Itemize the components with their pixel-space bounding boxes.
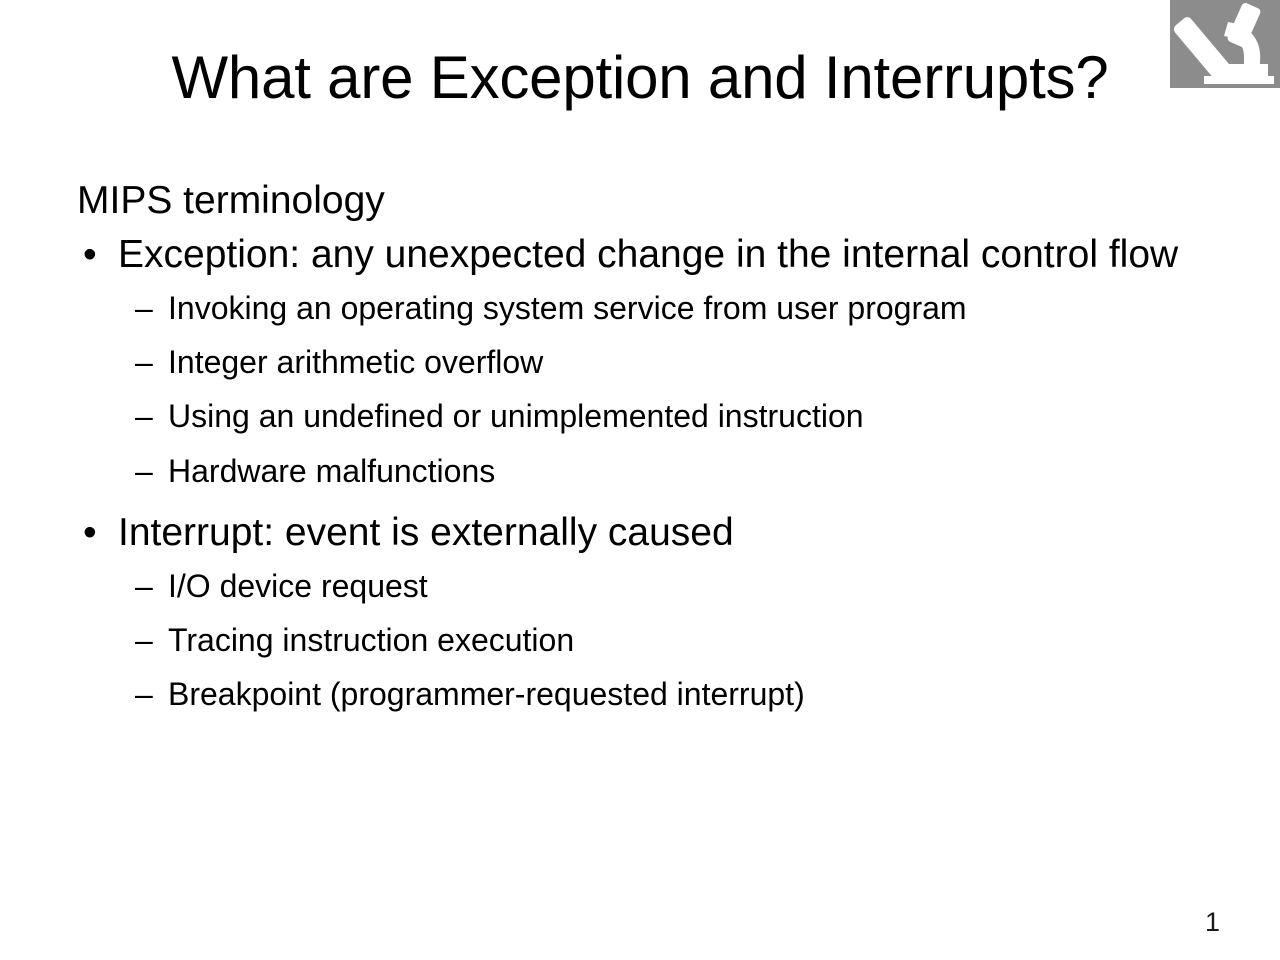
bullet-dash-icon: – bbox=[135, 289, 153, 328]
list-item: • Interrupt: event is externally caused bbox=[77, 510, 1207, 556]
list-item: – Using an undefined or unimplemented in… bbox=[77, 397, 1207, 436]
spacer bbox=[77, 280, 1207, 289]
list-item: – Breakpoint (programmer-requested inter… bbox=[77, 675, 1207, 714]
list-item-label: Hardware malfunctions bbox=[168, 453, 495, 489]
list-item-label: Breakpoint (programmer-requested interru… bbox=[168, 676, 805, 712]
page-title: What are Exception and Interrupts? bbox=[0, 46, 1280, 111]
list-item: – I/O device request bbox=[77, 567, 1207, 606]
bullet-dash-icon: – bbox=[135, 567, 153, 606]
bullet-dash-icon: – bbox=[135, 343, 153, 382]
bullet-dot-icon: • bbox=[83, 510, 97, 556]
list-item: – Integer arithmetic overflow bbox=[77, 343, 1207, 382]
list-item: – Hardware malfunctions bbox=[77, 452, 1207, 491]
list-item-label: Integer arithmetic overflow bbox=[168, 344, 543, 380]
bullet-dot-icon: • bbox=[83, 232, 97, 278]
list-item-label: Using an undefined or unimplemented inst… bbox=[168, 398, 864, 434]
bullet-dash-icon: – bbox=[135, 675, 153, 714]
list-item: – Tracing instruction execution bbox=[77, 621, 1207, 660]
list-item-label: Tracing instruction execution bbox=[168, 622, 574, 658]
spacer bbox=[77, 558, 1207, 567]
list-item-label: Interrupt: event is externally caused bbox=[118, 511, 734, 554]
list-item-label: Invoking an operating system service fro… bbox=[168, 290, 967, 326]
list-item-label: I/O device request bbox=[168, 568, 428, 604]
list-item-label: Exception: any unexpected change in the … bbox=[118, 233, 1178, 276]
bullet-dash-icon: – bbox=[135, 397, 153, 436]
body-heading: MIPS terminology bbox=[77, 178, 1207, 224]
list-item: – Invoking an operating system service f… bbox=[77, 289, 1207, 328]
presentation-slide: What are Exception and Interrupts? MIPS … bbox=[0, 0, 1280, 960]
bullet-dash-icon: – bbox=[135, 452, 153, 491]
page-number: 1 bbox=[1205, 909, 1220, 936]
list-item: • Exception: any unexpected change in th… bbox=[77, 232, 1207, 278]
bullet-dash-icon: – bbox=[135, 621, 153, 660]
slide-body: MIPS terminology • Exception: any unexpe… bbox=[77, 178, 1207, 729]
